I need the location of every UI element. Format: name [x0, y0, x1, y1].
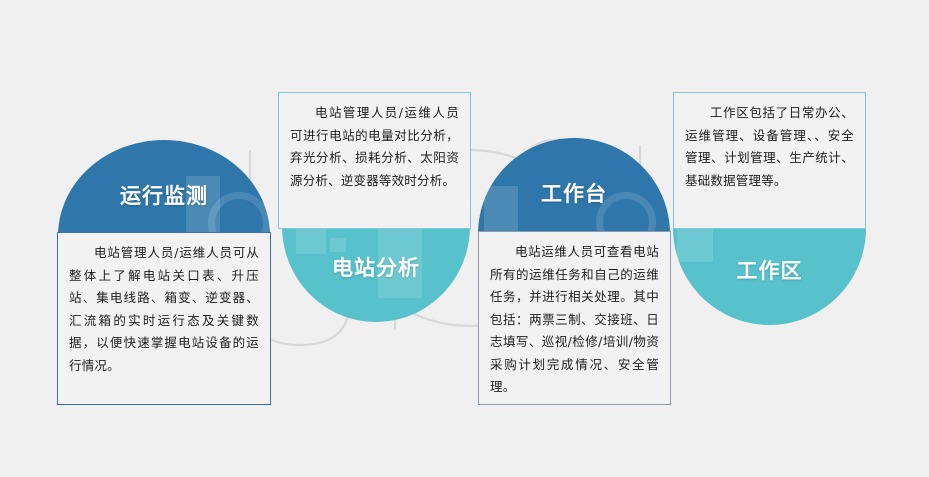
panel-shape-operation-monitoring: 运行监测 [58, 140, 270, 236]
panel-title-plant-analysis: 电站分析 [332, 252, 420, 282]
panel-title-work-area: 工作区 [737, 255, 803, 285]
panel-body-workbench: 电站运维人员可查看电站所有的运维任务和自己的运维任务，并进行相关处理。其中包括：… [490, 241, 659, 399]
panel-shape-plant-analysis: 电站分析 [282, 226, 470, 322]
panel-title-operation-monitoring: 运行监测 [120, 180, 208, 210]
panel-textbox-operation-monitoring: 电站管理人员/运维人员可从整体上了解电站关口表、升压站、集电线路、箱变、逆变器、… [57, 232, 271, 405]
panel-textbox-workbench: 电站运维人员可查看电站所有的运维任务和自己的运维任务，并进行相关处理。其中包括：… [478, 231, 671, 405]
decorative-square [677, 228, 713, 262]
decorative-square [484, 186, 518, 234]
panel-textbox-plant-analysis: 电站管理人员/运维人员可进行电站的电量对比分析，弃光分析、损耗分析、太阳资源分析… [278, 92, 471, 229]
panel-textbox-work-area: 工作区包括了日常办公、运维管理、设备管理、、安全管理、计划管理、生产统计、基础数… [673, 92, 866, 229]
infographic-canvas: 运行监测 电站管理人员/运维人员可从整体上了解电站关口表、升压站、集电线路、箱变… [0, 0, 929, 477]
decorative-ring [208, 192, 270, 236]
decorative-square [330, 238, 346, 252]
panel-shape-work-area: 工作区 [673, 228, 866, 325]
panel-shape-workbench: 工作台 [478, 138, 670, 234]
panel-body-work-area: 工作区包括了日常办公、运维管理、设备管理、、安全管理、计划管理、生产统计、基础数… [685, 102, 854, 192]
panel-body-plant-analysis: 电站管理人员/运维人员可进行电站的电量对比分析，弃光分析、损耗分析、太阳资源分析… [290, 102, 459, 192]
panel-title-workbench: 工作台 [541, 178, 607, 208]
decorative-square [296, 228, 326, 254]
panel-body-operation-monitoring: 电站管理人员/运维人员可从整体上了解电站关口表、升压站、集电线路、箱变、逆变器、… [69, 242, 259, 377]
